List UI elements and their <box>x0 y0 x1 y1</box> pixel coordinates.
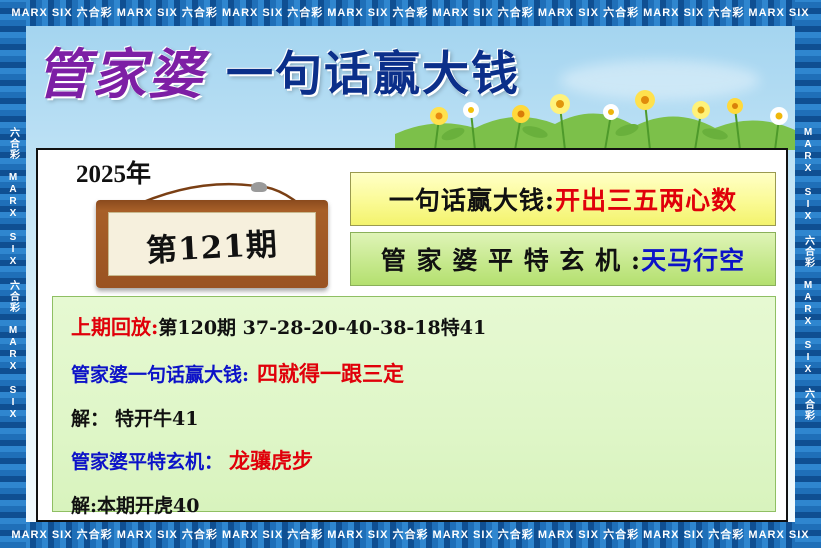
slogan-title: 一句话赢大钱 <box>226 35 520 104</box>
banner-tips-row: 管 家 婆 平 特 玄 机 : 天马行空 <box>350 232 776 286</box>
marquee-right-text: MARX SIX 六合彩 MARX SIX 六合彩 <box>795 0 821 548</box>
slogan-answer-line: 管家婆一句话赢大钱: 四就得一跟三定 <box>71 358 757 388</box>
header-title-row: 管家婆 一句话赢大钱 <box>36 34 656 104</box>
slogan-answer-value: 四就得一跟三定 <box>257 358 404 388</box>
explain-line-2: 解:本期开虎40 <box>71 491 757 518</box>
marquee-left-text: 六合彩 MARX SIX 六合彩 MARX SIX <box>0 0 26 548</box>
marquee-top-text: MARX SIX 六合彩 MARX SIX 六合彩 MARX SIX 六合彩 M… <box>0 0 821 26</box>
sign-board: 第121期 <box>96 200 328 288</box>
explain-line-1: 解： 特开牛41 <box>71 404 757 431</box>
banner-slogan-row: 一句话赢大钱: 开出三五两心数 <box>350 172 776 226</box>
main-panel: 2025年 第121期 一句话赢大钱: 开出三五两心数 管 家 婆 平 特 玄 … <box>36 148 788 522</box>
banner-2-value: 天马行空 <box>641 241 745 277</box>
hanging-sign: 第121期 <box>96 178 328 288</box>
explain-1-value: 特开牛41 <box>115 404 198 431</box>
issue-number-text: 第121期 <box>145 218 279 270</box>
sign-inner-panel: 第121期 <box>108 212 316 276</box>
explain-2-label: 解:本期开虎40 <box>71 491 199 518</box>
replay-value: 第120期 37-28-20-40-38-18特41 <box>158 313 486 340</box>
banner-1-label: 一句话赢大钱: <box>389 181 555 217</box>
explain-1-label: 解： <box>71 404 109 431</box>
tips-answer-line: 管家婆平特玄机： 龙骧虎步 <box>71 445 757 475</box>
banner-1-value: 开出三五两心数 <box>555 181 737 217</box>
poster-canvas: 管家婆 一句话赢大钱 2025年 第121期 一句话赢大钱: 开出三五两心数 管… <box>0 0 821 548</box>
slogan-answer-label: 管家婆一句话赢大钱: <box>71 360 249 387</box>
content-box: 上期回放: 第120期 37-28-20-40-38-18特41 管家婆一句话赢… <box>52 296 776 512</box>
brand-title: 管家婆 <box>36 30 204 109</box>
sign-peg <box>251 182 267 192</box>
banner-2-label: 管 家 婆 平 特 玄 机 : <box>381 241 641 277</box>
replay-label: 上期回放: <box>71 311 158 340</box>
tips-answer-label: 管家婆平特玄机： <box>71 447 223 474</box>
tips-answer-value: 龙骧虎步 <box>229 445 313 475</box>
replay-line: 上期回放: 第120期 37-28-20-40-38-18特41 <box>71 311 757 340</box>
marquee-bottom-text: MARX SIX 六合彩 MARX SIX 六合彩 MARX SIX 六合彩 M… <box>0 522 821 548</box>
